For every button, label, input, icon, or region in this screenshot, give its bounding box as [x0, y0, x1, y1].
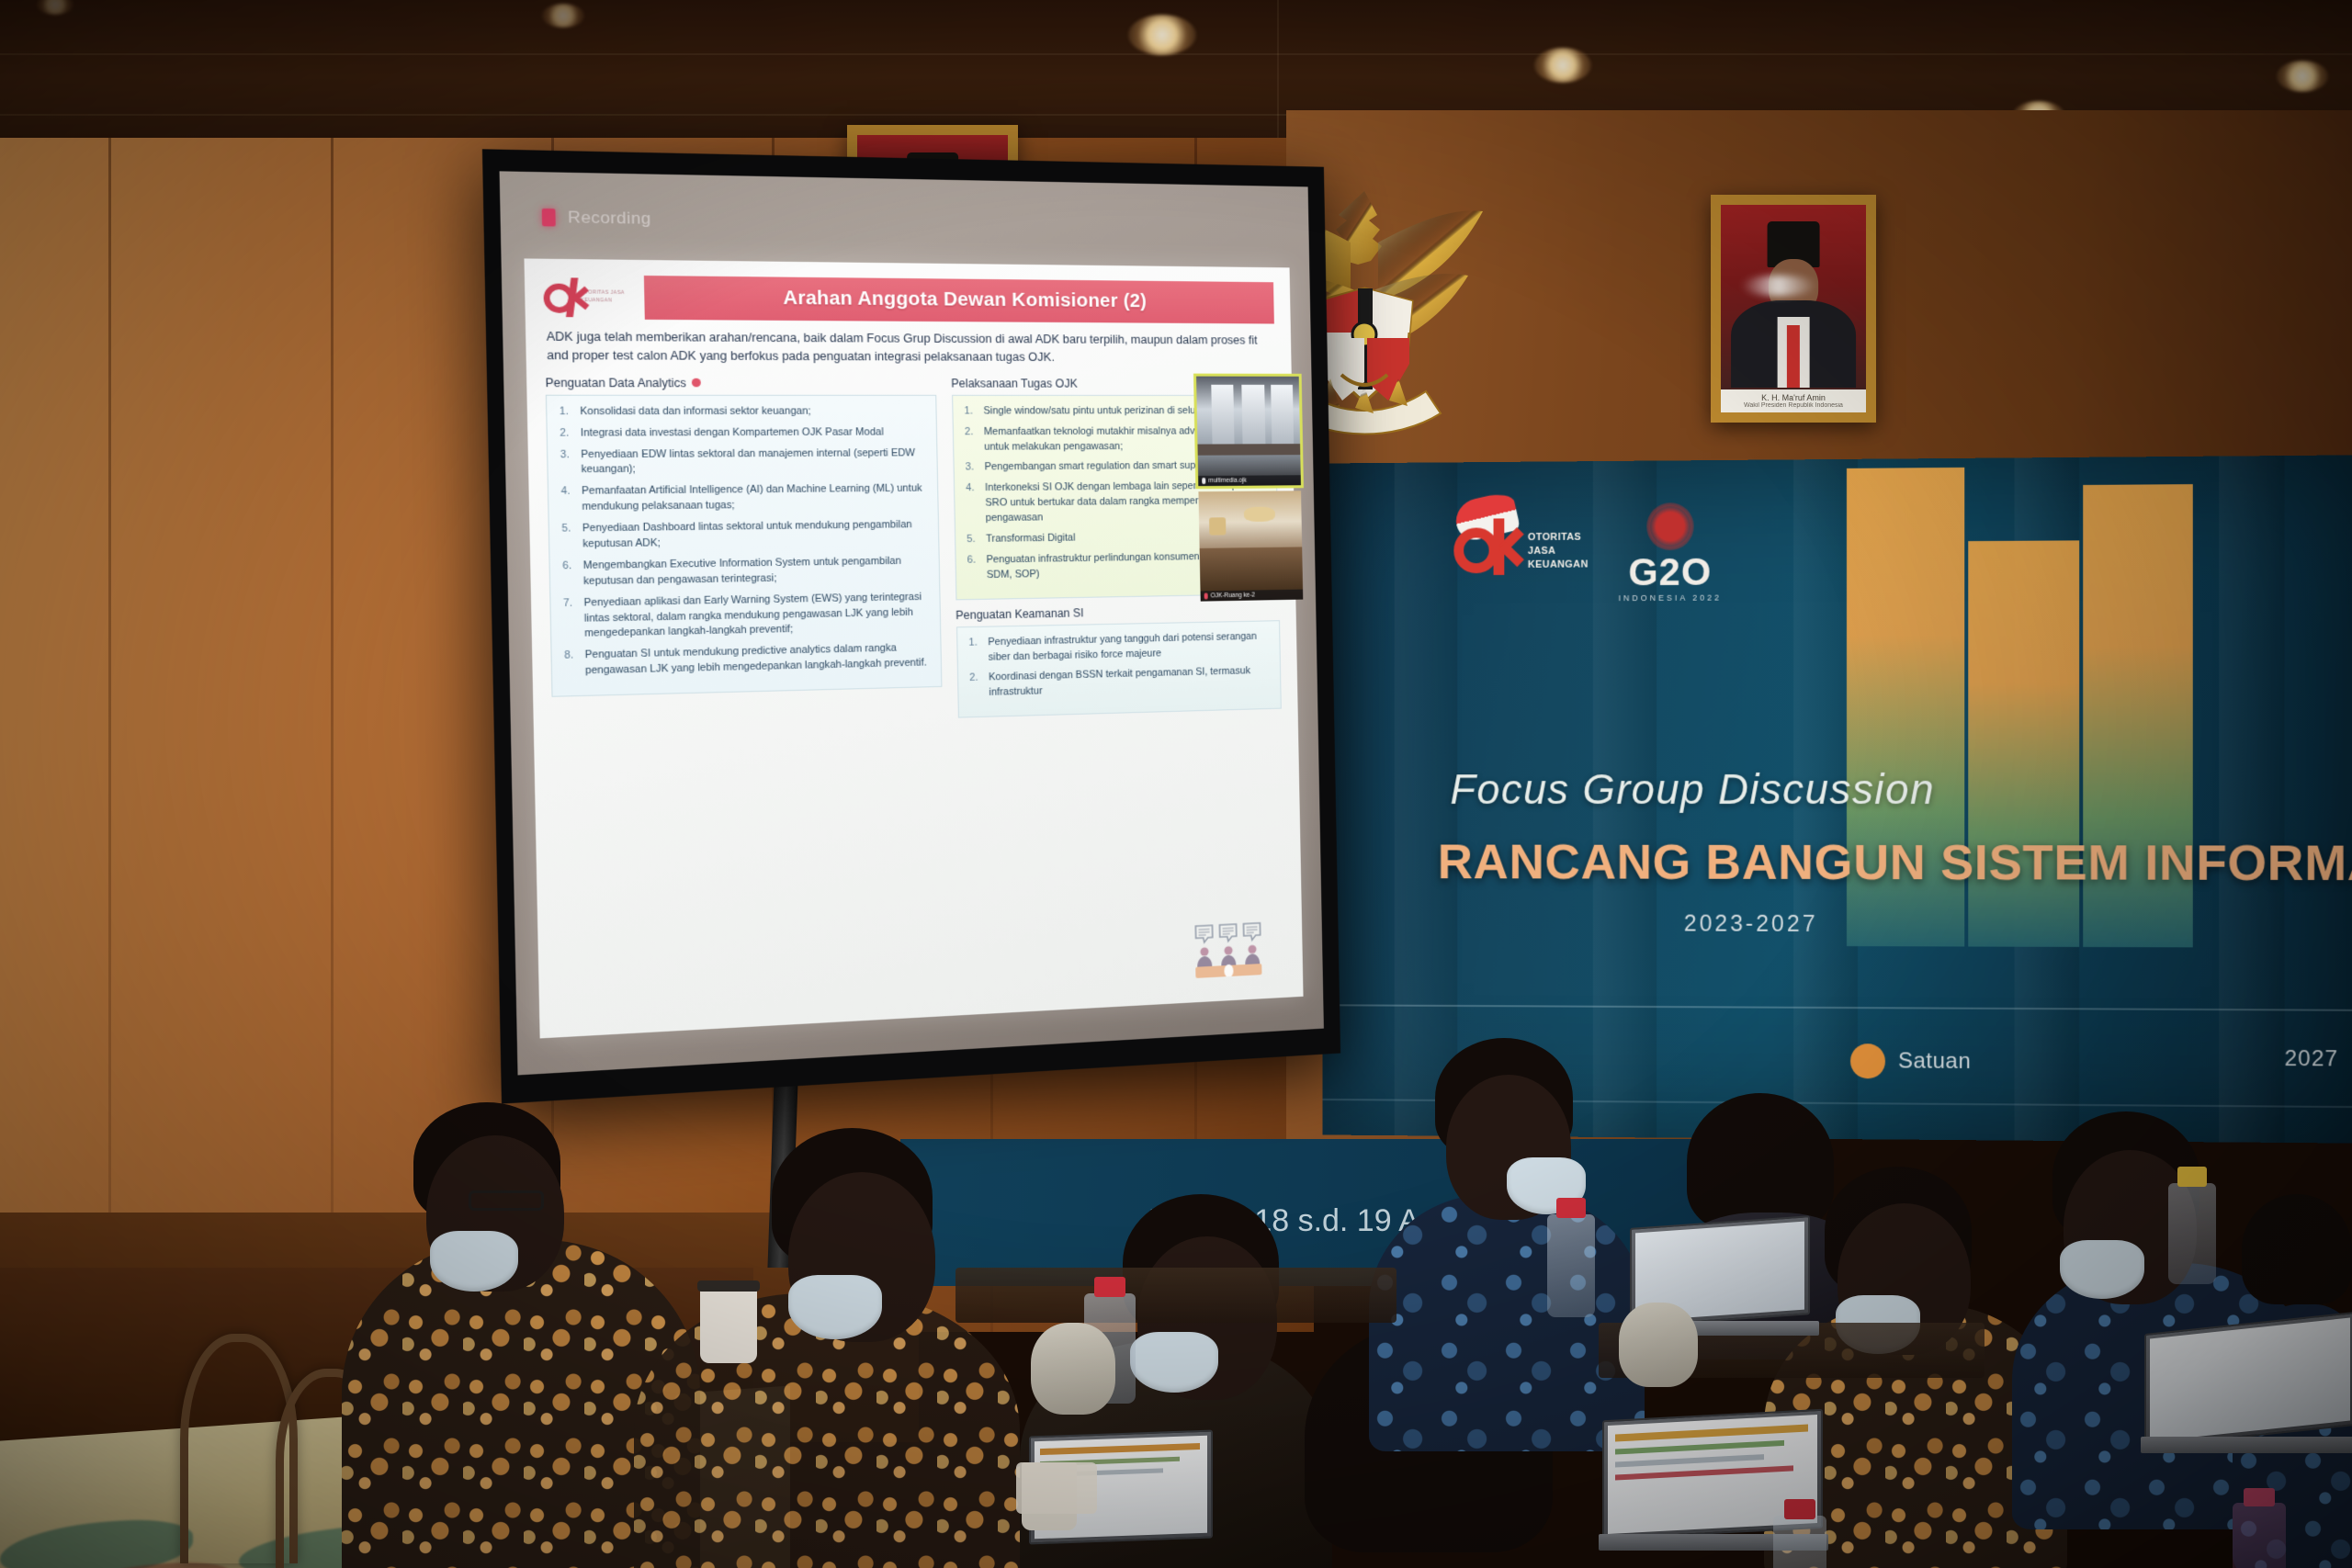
eyeglasses: [469, 1190, 544, 1211]
saucer: [1016, 1462, 1097, 1514]
coffee-cup[interactable]: [700, 1288, 757, 1363]
teapot[interactable]: [1619, 1303, 1698, 1387]
water-bottle[interactable]: [1773, 1516, 1826, 1568]
table: [955, 1268, 1396, 1323]
water-bottle[interactable]: [1547, 1214, 1595, 1317]
water-bottle[interactable]: [2168, 1183, 2216, 1284]
laptop[interactable]: [2141, 1323, 2352, 1479]
attendee: [634, 1128, 1020, 1568]
meeting-room-scene: K. H. Ma'ruf Amin Wakil Presiden Republi…: [0, 0, 2352, 1568]
teapot[interactable]: [1031, 1323, 1115, 1415]
water-bottle[interactable]: [2233, 1503, 2286, 1568]
foreground-attendees: [0, 0, 2352, 1568]
